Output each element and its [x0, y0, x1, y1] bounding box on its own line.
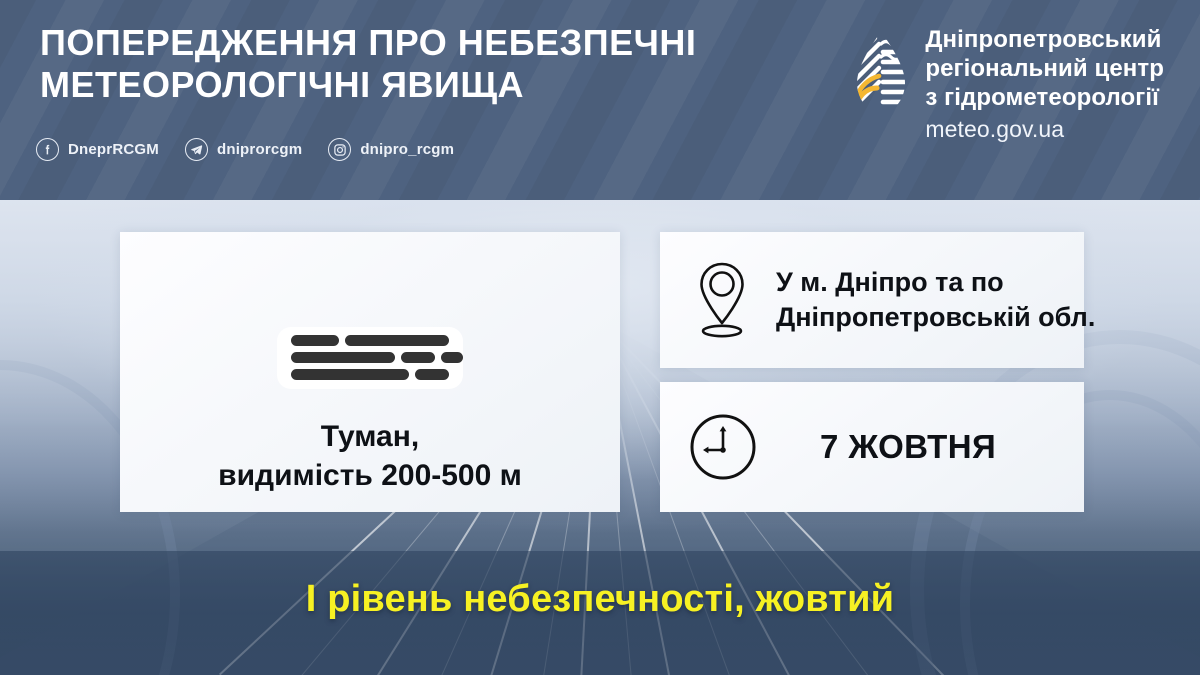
social-link-telegram[interactable]: dniprorcgm [185, 138, 302, 161]
header-bar: ПОПЕРЕДЖЕННЯ ПРО НЕБЕЗПЕЧНІ МЕТЕОРОЛОГІЧ… [0, 0, 1200, 200]
fog-icon [277, 327, 463, 389]
brand-block: Дніпропетровський регіональний центр з г… [853, 26, 1164, 145]
social-handle-telegram: dniprorcgm [217, 141, 302, 158]
brand-name-line-1: Дніпропетровський [925, 26, 1164, 55]
map-pin-icon [690, 258, 754, 342]
brand-website[interactable]: meteo.gov.ua [925, 114, 1164, 145]
brand-name-line-2: регіональний центр [925, 55, 1164, 84]
clock-icon [688, 412, 758, 482]
date-card: 7 ЖОВТНЯ [660, 382, 1084, 512]
location-card: У м. Дніпро та по Дніпропетровській обл. [660, 232, 1084, 368]
page-title-line-1: ПОПЕРЕДЖЕННЯ ПРО НЕБЕЗПЕЧНІ [40, 22, 760, 64]
phenomenon-label: Туман, видимість 200-500 м [218, 417, 522, 495]
phenomenon-card: Туман, видимість 200-500 м [120, 232, 620, 512]
location-text-line-1: У м. Дніпро та по [776, 265, 1095, 300]
brand-name-line-3: з гідрометеорології [925, 84, 1164, 113]
page-title: ПОПЕРЕДЖЕННЯ ПРО НЕБЕЗПЕЧНІ МЕТЕОРОЛОГІЧ… [40, 22, 760, 107]
brand-name: Дніпропетровський регіональний центр з г… [925, 26, 1164, 145]
droplet-hydrometeorology-logo-icon [853, 30, 909, 116]
telegram-icon [185, 138, 208, 161]
phenomenon-label-line-2: видимість 200-500 м [218, 456, 522, 495]
page-title-line-2: МЕТЕОРОЛОГІЧНІ ЯВИЩА [40, 64, 760, 106]
location-text-line-2: Дніпропетровській обл. [776, 300, 1095, 335]
weather-warning-poster: ПОПЕРЕДЖЕННЯ ПРО НЕБЕЗПЕЧНІ МЕТЕОРОЛОГІЧ… [0, 0, 1200, 675]
facebook-icon [36, 138, 59, 161]
instagram-icon [328, 138, 351, 161]
social-handle-facebook: DneprRCGM [68, 141, 159, 158]
social-handle-instagram: dnipro_rcgm [360, 141, 454, 158]
social-links: DneprRCGM dniprorcgm [36, 138, 454, 161]
phenomenon-label-line-1: Туман, [218, 417, 522, 456]
date-text: 7 ЖОВТНЯ [820, 428, 996, 466]
social-link-facebook[interactable]: DneprRCGM [36, 138, 159, 161]
danger-level-banner: І рівень небезпечності, жовтий [0, 578, 1200, 621]
location-text: У м. Дніпро та по Дніпропетровській обл. [776, 265, 1095, 335]
social-link-instagram[interactable]: dnipro_rcgm [328, 138, 454, 161]
